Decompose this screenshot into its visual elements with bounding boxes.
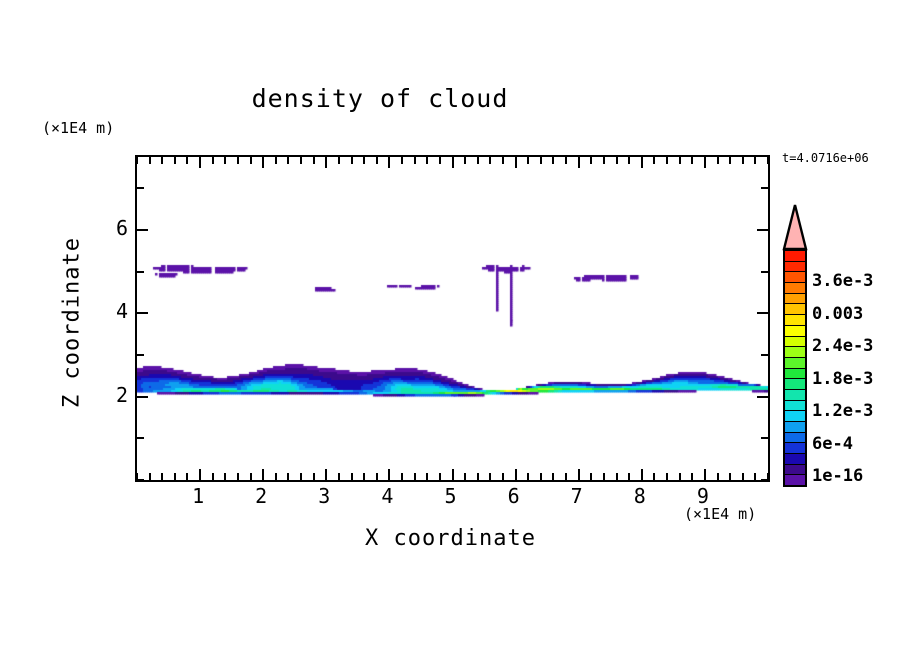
y-tick-label: 4 xyxy=(88,299,128,323)
x-tick-major-top xyxy=(641,469,643,480)
x-tick-minor xyxy=(742,157,744,164)
colorbar-band xyxy=(785,283,805,294)
x-tick-major xyxy=(325,157,327,168)
x-tick-minor-top xyxy=(351,473,353,480)
y-tick-major xyxy=(137,312,148,314)
x-tick-minor xyxy=(717,157,719,164)
x-tick-minor-top xyxy=(603,473,605,480)
x-tick-minor xyxy=(250,157,252,164)
plot-area xyxy=(135,155,770,482)
x-tick-minor xyxy=(300,157,302,164)
x-tick-minor xyxy=(313,157,315,164)
x-tick-minor-top xyxy=(477,473,479,480)
x-tick-minor xyxy=(502,157,504,164)
x-tick-major-top xyxy=(388,469,390,480)
y-tick-label: 2 xyxy=(88,383,128,407)
colorbar-band xyxy=(785,401,805,412)
colorbar-label: 1e-16 xyxy=(812,466,863,486)
x-tick-minor-top xyxy=(275,473,277,480)
x-tick-minor-top xyxy=(754,473,756,480)
x-tick-minor xyxy=(489,157,491,164)
x-tick-minor-top xyxy=(237,473,239,480)
x-tick-label: 2 xyxy=(241,484,281,508)
x-tick-minor xyxy=(275,157,277,164)
x-tick-minor xyxy=(174,157,176,164)
x-tick-minor xyxy=(439,157,441,164)
x-tick-major-top xyxy=(578,469,580,480)
x-tick-minor xyxy=(628,157,630,164)
x-tick-minor-top xyxy=(679,473,681,480)
x-tick-minor-top xyxy=(300,473,302,480)
colorbar-label: 1.8e-3 xyxy=(812,369,873,389)
x-tick-minor xyxy=(351,157,353,164)
x-tick-minor-top xyxy=(250,473,252,480)
y-tick-minor xyxy=(137,271,144,273)
y-tick-minor-right xyxy=(761,437,768,439)
colorbar-band xyxy=(785,390,805,401)
colorbar-band xyxy=(785,433,805,444)
colorbar-band xyxy=(785,251,805,262)
x-tick-minor-top xyxy=(174,473,176,480)
contour-canvas xyxy=(137,157,768,480)
x-tick-minor-top xyxy=(414,473,416,480)
colorbar-band xyxy=(785,262,805,273)
colorbar-label: 6e-4 xyxy=(812,434,853,454)
y-tick-major-right xyxy=(757,312,768,314)
x-tick-minor xyxy=(540,157,542,164)
x-tick-minor-top xyxy=(338,473,340,480)
x-tick-major xyxy=(515,157,517,168)
y-tick-minor-right xyxy=(761,187,768,189)
y-tick-minor xyxy=(137,479,144,481)
y-tick-minor xyxy=(137,187,144,189)
colorbar-label: 2.4e-3 xyxy=(812,336,873,356)
x-tick-minor-top xyxy=(401,473,403,480)
page-title: density of cloud xyxy=(0,84,760,113)
x-tick-major-top xyxy=(325,469,327,480)
colorbar-band xyxy=(785,465,805,476)
x-tick-minor xyxy=(186,157,188,164)
x-tick-minor xyxy=(666,157,668,164)
x-tick-minor xyxy=(149,157,151,164)
x-tick-major-top xyxy=(452,469,454,480)
x-tick-minor-top xyxy=(742,473,744,480)
x-tick-minor xyxy=(754,157,756,164)
x-tick-label: 6 xyxy=(494,484,534,508)
x-tick-minor-top xyxy=(186,473,188,480)
colorbar-band xyxy=(785,443,805,454)
x-tick-minor xyxy=(477,157,479,164)
colorbar-label: 1.2e-3 xyxy=(812,401,873,421)
colorbar-label: 0.003 xyxy=(812,304,863,324)
x-tick-minor-top xyxy=(149,473,151,480)
x-tick-minor xyxy=(603,157,605,164)
x-tick-minor xyxy=(691,157,693,164)
x-tick-minor xyxy=(287,157,289,164)
x-tick-minor xyxy=(552,157,554,164)
x-tick-minor-top xyxy=(363,473,365,480)
x-tick-label: 4 xyxy=(367,484,407,508)
x-tick-minor-top xyxy=(464,473,466,480)
y-tick-major xyxy=(137,229,148,231)
x-tick-major xyxy=(388,157,390,168)
x-tick-minor-top xyxy=(616,473,618,480)
figure-root: density of cloud (×1E4 m) t=4.0716e+06 1… xyxy=(0,0,904,654)
x-tick-major xyxy=(262,157,264,168)
y-tick-minor xyxy=(137,354,144,356)
x-tick-minor-top xyxy=(502,473,504,480)
y-tick-major xyxy=(137,396,148,398)
x-tick-minor-top xyxy=(691,473,693,480)
colorbar-band xyxy=(785,358,805,369)
x-tick-minor-top xyxy=(313,473,315,480)
x-tick-minor xyxy=(224,157,226,164)
x-tick-minor-top xyxy=(212,473,214,480)
x-tick-minor-top xyxy=(426,473,428,480)
colorbar-band xyxy=(785,475,805,485)
x-tick-minor-top xyxy=(376,473,378,480)
colorbar-band xyxy=(785,379,805,390)
x-tick-major xyxy=(641,157,643,168)
x-tick-major xyxy=(452,157,454,168)
x-tick-minor-top xyxy=(590,473,592,480)
colorbar-band xyxy=(785,369,805,380)
x-tick-minor xyxy=(376,157,378,164)
colorbar-bands xyxy=(783,249,807,487)
y-tick-label: 6 xyxy=(88,216,128,240)
colorbar-band xyxy=(785,315,805,326)
colorbar-band xyxy=(785,422,805,433)
x-tick-minor xyxy=(401,157,403,164)
x-tick-minor-top xyxy=(729,473,731,480)
x-tick-minor-top xyxy=(287,473,289,480)
colorbar-band xyxy=(785,411,805,422)
y-tick-minor-right xyxy=(761,271,768,273)
x-tick-major xyxy=(704,157,706,168)
y-tick-major-right xyxy=(757,229,768,231)
x-tick-label: 5 xyxy=(431,484,471,508)
x-axis-title: X coordinate xyxy=(135,526,766,551)
x-tick-minor-top xyxy=(439,473,441,480)
x-tick-minor xyxy=(414,157,416,164)
x-tick-label: 1 xyxy=(178,484,218,508)
x-tick-minor xyxy=(237,157,239,164)
x-tick-major-top xyxy=(704,469,706,480)
x-tick-major-top xyxy=(199,469,201,480)
colorbar xyxy=(781,203,809,487)
x-tick-minor-top xyxy=(489,473,491,480)
x-tick-label: 8 xyxy=(620,484,660,508)
colorbar-overflow-arrow-icon xyxy=(781,203,809,251)
y-tick-minor-right xyxy=(761,354,768,356)
x-tick-major-top xyxy=(515,469,517,480)
colorbar-label: 3.6e-3 xyxy=(812,271,873,291)
x-tick-minor xyxy=(363,157,365,164)
y-axis-unit-label: (×1E4 m) xyxy=(42,119,114,137)
x-tick-minor xyxy=(527,157,529,164)
x-tick-label: 3 xyxy=(304,484,344,508)
x-tick-minor-top xyxy=(666,473,668,480)
x-tick-minor-top xyxy=(552,473,554,480)
x-tick-minor xyxy=(653,157,655,164)
x-tick-minor-top xyxy=(653,473,655,480)
colorbar-band xyxy=(785,347,805,358)
x-tick-minor-top xyxy=(527,473,529,480)
y-tick-minor xyxy=(137,437,144,439)
colorbar-band xyxy=(785,294,805,305)
x-tick-minor-top xyxy=(161,473,163,480)
x-tick-minor xyxy=(464,157,466,164)
time-stamp-label: t=4.0716e+06 xyxy=(782,151,869,165)
x-tick-minor-top xyxy=(540,473,542,480)
x-tick-minor xyxy=(729,157,731,164)
colorbar-band xyxy=(785,326,805,337)
colorbar-band xyxy=(785,272,805,283)
x-tick-minor xyxy=(212,157,214,164)
x-axis-unit-label: (×1E4 m) xyxy=(684,505,756,523)
y-tick-major-right xyxy=(757,396,768,398)
x-tick-major-top xyxy=(262,469,264,480)
y-tick-minor-right xyxy=(761,479,768,481)
x-tick-minor xyxy=(161,157,163,164)
y-axis-title: Z coordinate xyxy=(60,193,85,453)
colorbar-band xyxy=(785,454,805,465)
x-tick-label: 7 xyxy=(557,484,597,508)
colorbar-band xyxy=(785,337,805,348)
x-tick-minor-top xyxy=(224,473,226,480)
x-tick-minor-top xyxy=(628,473,630,480)
x-tick-minor xyxy=(565,157,567,164)
x-tick-minor-top xyxy=(717,473,719,480)
x-tick-minor-top xyxy=(565,473,567,480)
x-tick-major xyxy=(199,157,201,168)
colorbar-band xyxy=(785,304,805,315)
x-tick-minor xyxy=(679,157,681,164)
x-tick-minor xyxy=(590,157,592,164)
x-tick-minor xyxy=(426,157,428,164)
x-tick-minor xyxy=(767,157,769,164)
x-tick-minor xyxy=(338,157,340,164)
x-tick-major xyxy=(578,157,580,168)
x-tick-minor xyxy=(136,157,138,164)
x-tick-minor xyxy=(616,157,618,164)
